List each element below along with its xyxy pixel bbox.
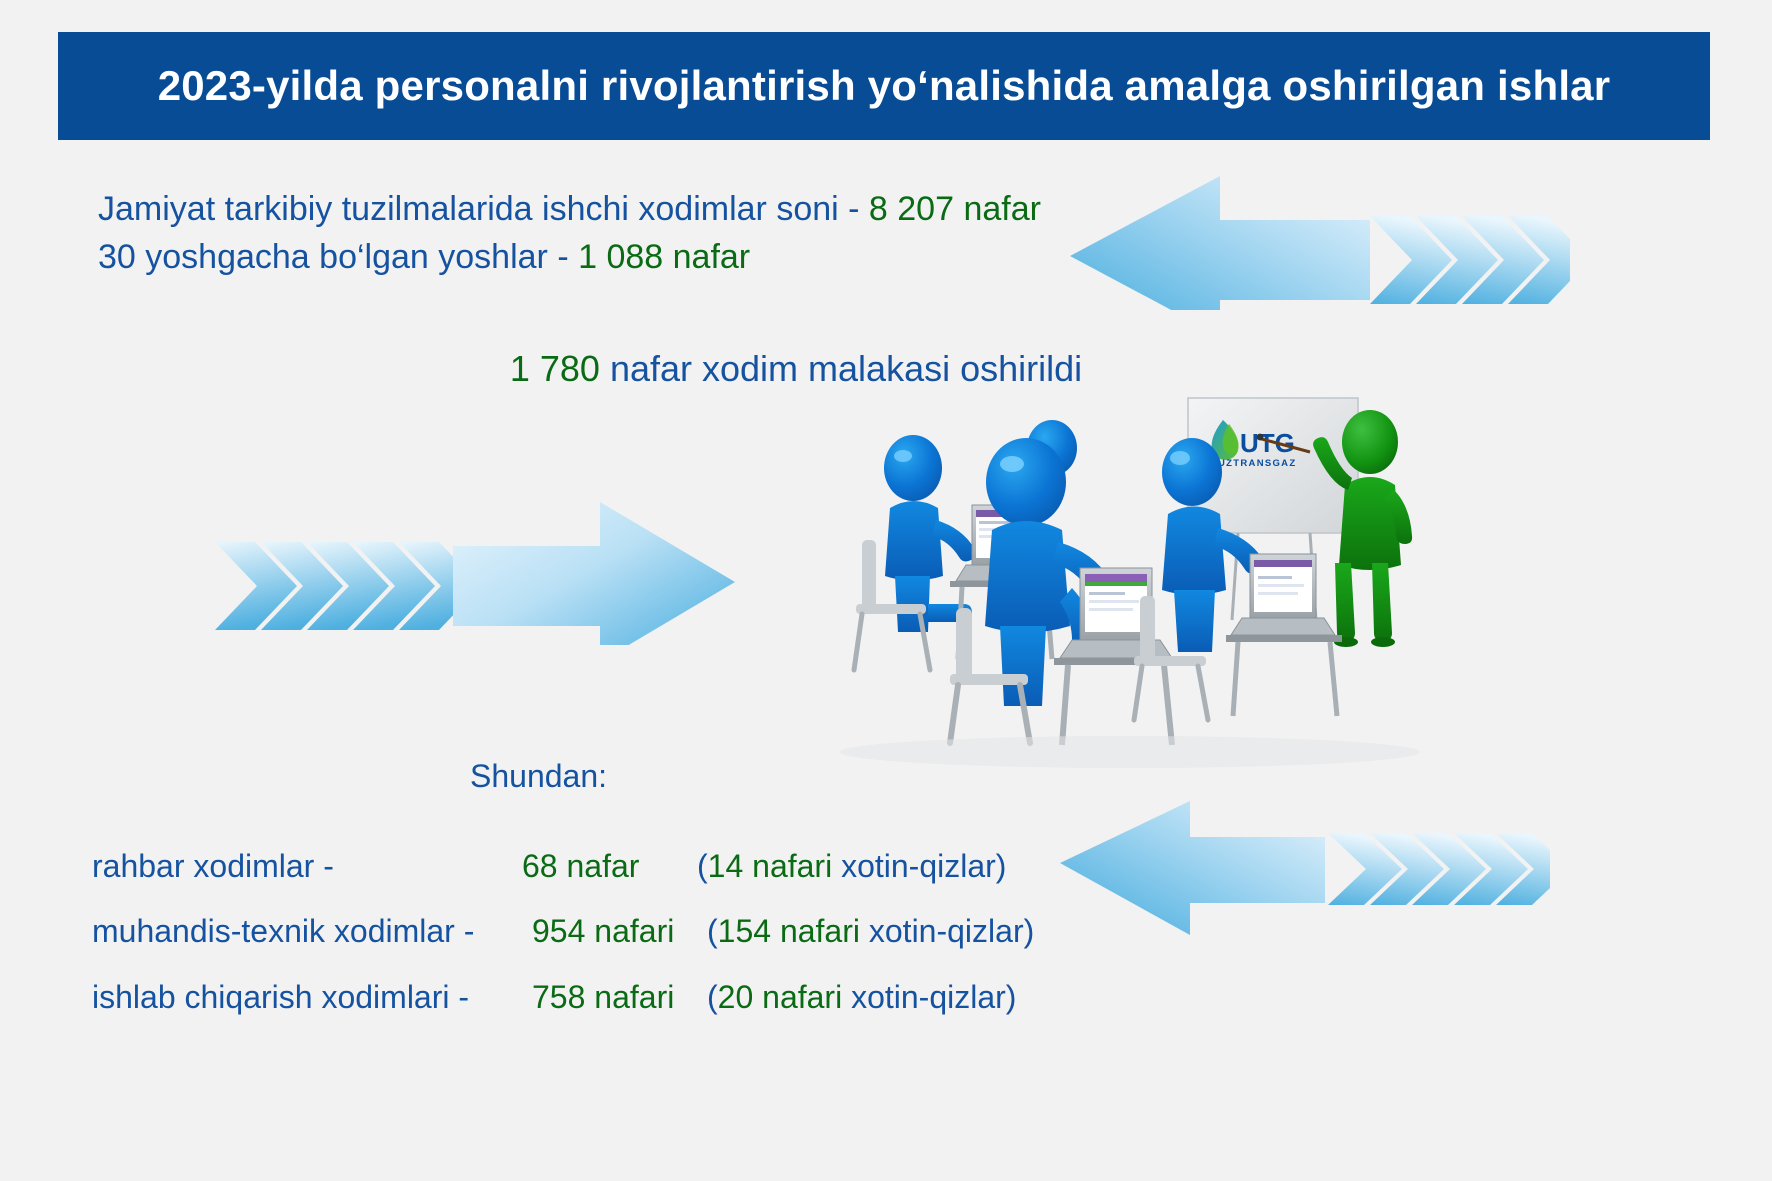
laptop — [1226, 554, 1342, 716]
slide-root: 2023-yilda personalni rivojlantirish yo‘… — [0, 0, 1772, 1181]
breakdown-value: 758 nafari — [532, 979, 707, 1016]
page-title: 2023-yilda personalni rivojlantirish yo‘… — [158, 62, 1611, 110]
stat-line-employees-label: Jamiyat tarkibiy tuzilmalarida ishchi xo… — [98, 190, 869, 228]
breakdown-label: ishlab chiqarish xodimlari - — [92, 979, 532, 1016]
highlight-line: 1 780 nafar xodim malakasi oshirildi — [0, 348, 1772, 390]
breakdown-row-managers: rahbar xodimlar -68 nafar(14 nafari xoti… — [92, 848, 1006, 885]
breakdown-paren-tail: xotin-qizlar) — [842, 979, 1016, 1015]
breakdown-value: 954 nafari — [532, 913, 707, 950]
breakdown-women-value: 154 nafari — [718, 913, 860, 949]
breakdown-row-production: ishlab chiqarish xodimlari -758 nafari(2… — [92, 979, 1016, 1016]
arrow-right-middle-icon — [205, 470, 735, 645]
breakdown-women-value: 14 nafari — [708, 848, 833, 884]
breakdown-value: 68 nafar — [522, 848, 697, 885]
arrow-left-top-icon — [1070, 150, 1570, 310]
shundan-label: Shundan: — [470, 758, 607, 795]
stat-line-youth: 30 yoshgacha bo‘lgan yoshlar - 1 088 naf… — [98, 238, 750, 277]
arrow-left-bottom-icon — [1060, 785, 1550, 935]
board-logo-sub: UZTRANSGAZ — [1218, 458, 1296, 469]
stat-line-employees: Jamiyat tarkibiy tuzilmalarida ishchi xo… — [98, 190, 1041, 229]
breakdown-paren-tail: xotin-qizlar) — [832, 848, 1006, 884]
classroom-illustration: UTG UZTRANSGAZ — [840, 390, 1460, 770]
stat-line-youth-value: 1 088 nafar — [578, 238, 750, 276]
stat-line-youth-label: 30 yoshgacha bo‘lgan yoshlar - — [98, 238, 578, 276]
breakdown-paren-open: ( — [697, 848, 708, 885]
breakdown-label: muhandis-texnik xodimlar - — [92, 913, 532, 950]
breakdown-women-value: 20 nafari — [718, 979, 843, 1015]
breakdown-label: rahbar xodimlar - — [92, 848, 522, 885]
breakdown-paren-tail: xotin-qizlar) — [860, 913, 1034, 949]
breakdown-row-engineers: muhandis-texnik xodimlar -954 nafari(154… — [92, 913, 1034, 950]
highlight-text: nafar xodim malakasi oshirildi — [600, 348, 1082, 389]
title-bar: 2023-yilda personalni rivojlantirish yo‘… — [58, 32, 1710, 140]
board-logo-main: UTG — [1240, 428, 1295, 458]
breakdown-paren-open: ( — [707, 913, 718, 950]
highlight-value: 1 780 — [510, 348, 600, 389]
stat-line-employees-value: 8 207 nafar — [869, 190, 1041, 228]
breakdown-paren-open: ( — [707, 979, 718, 1016]
